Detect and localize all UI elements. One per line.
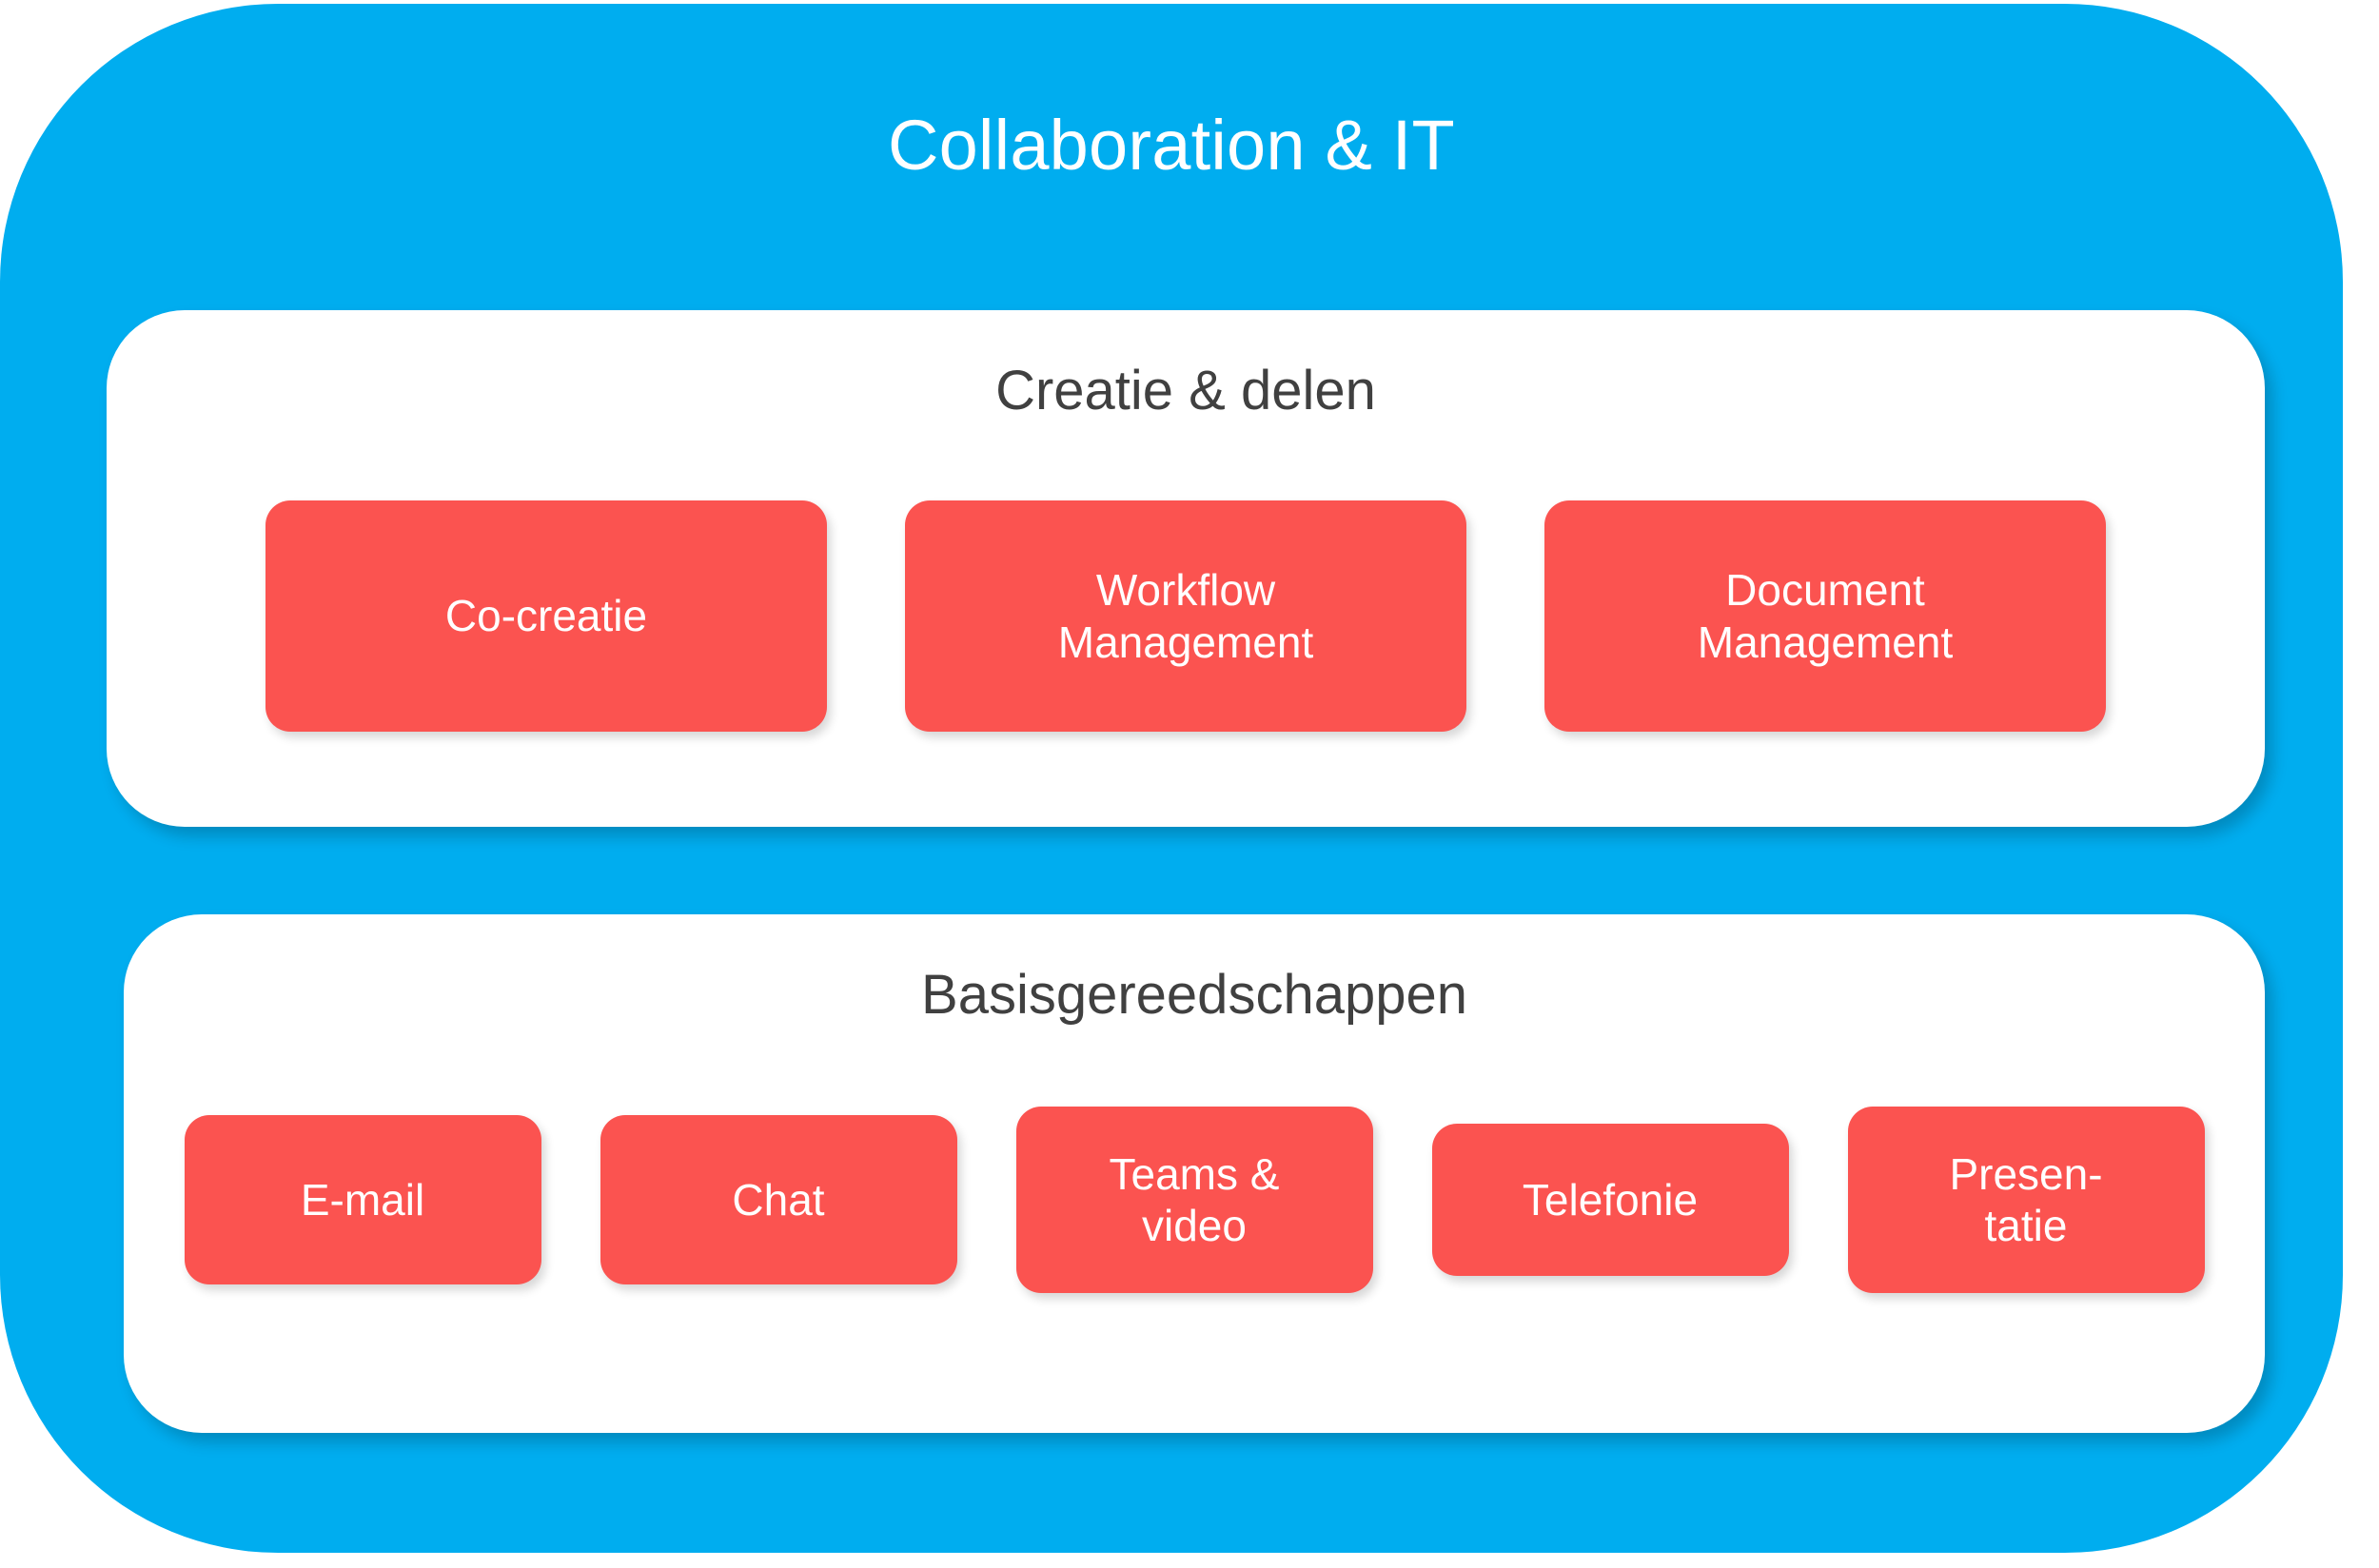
item-document-management[interactable]: Document Management xyxy=(1544,500,2106,732)
item-presentatie[interactable]: Presen- tatie xyxy=(1848,1107,2205,1293)
group-title-basisgereedschappen: Basisgereedschappen xyxy=(124,964,2265,1028)
item-workflow-management[interactable]: Workflow Management xyxy=(905,500,1466,732)
group-title-creatie-delen: Creatie & delen xyxy=(107,360,2265,423)
group-panel-basisgereedschappen: Basisgereedschappen E-mail Chat Teams & … xyxy=(124,914,2265,1433)
diagram-root: Collaboration & IT Creatie & delen Co-cr… xyxy=(0,0,2379,1568)
item-teams-video[interactable]: Teams & video xyxy=(1016,1107,1373,1293)
item-row-basisgereedschappen: E-mail Chat Teams & video Telefonie Pres… xyxy=(124,1109,2265,1290)
item-chat[interactable]: Chat xyxy=(600,1115,957,1284)
item-row-creatie-delen: Co-creatie Workflow Management Document … xyxy=(107,500,2265,732)
collaboration-it-container: Collaboration & IT Creatie & delen Co-cr… xyxy=(0,4,2343,1553)
item-co-creatie[interactable]: Co-creatie xyxy=(265,500,827,732)
item-telefonie[interactable]: Telefonie xyxy=(1432,1124,1789,1276)
diagram-title: Collaboration & IT xyxy=(0,107,2343,184)
group-panel-creatie-delen: Creatie & delen Co-creatie Workflow Mana… xyxy=(107,310,2265,827)
item-e-mail[interactable]: E-mail xyxy=(185,1115,541,1284)
